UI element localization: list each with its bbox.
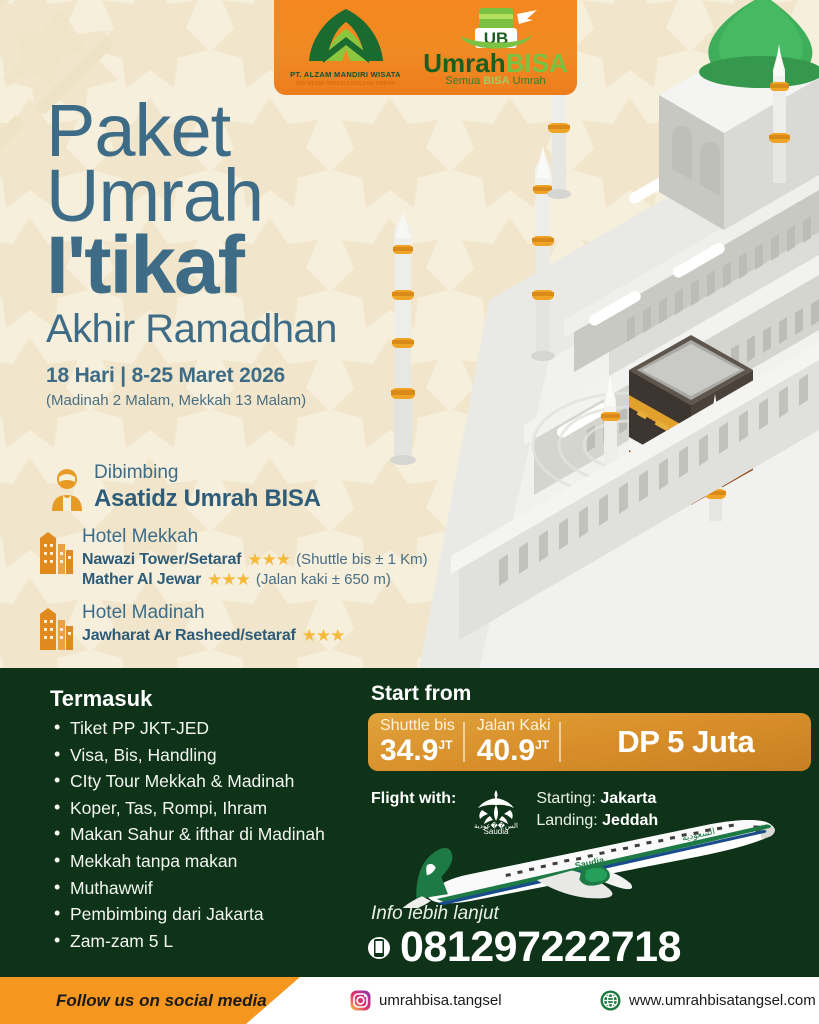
saudia-airplane-illustration: Saudia السعودية (385, 818, 815, 908)
follow-us-text: Follow us on social media (56, 991, 267, 1011)
guide-block: Dibimbing Asatidz Umrah BISA (50, 463, 321, 512)
website-link[interactable]: www.umrahbisatangsel.com (600, 990, 816, 1011)
hotel-entry: Mather Al Jewar ★★★ (Jalan kaki ± 650 m) (82, 571, 428, 589)
alzam-logo-subtitle: IZIN RESMI PENYELENGGARA UMRAH (281, 81, 411, 87)
price-option-label: Jalan Kaki (477, 718, 551, 735)
starting-value: Jakarta (600, 790, 656, 807)
hotel-name: Mather Al Jewar (82, 571, 201, 589)
phone-number[interactable]: 081297222718 (400, 926, 681, 969)
list-item: Makan Sahur & ifthar di Madinah (50, 821, 360, 848)
list-item: Pembimbing dari Jakarta (50, 901, 360, 928)
umrahbisa-name-part2: BISA (506, 48, 568, 78)
star-rating: ★★★ (302, 627, 345, 644)
guide-label: Dibimbing (94, 463, 321, 484)
guide-name: Asatidz Umrah BISA (94, 485, 321, 513)
hotel-city-label: Hotel Mekkah (82, 526, 428, 549)
tagline-part2: BISA (483, 75, 509, 87)
alzam-mosque-logo-icon (281, 5, 411, 67)
umrahbisa-logo: UB UmrahBISA Semua BISA Umrah (421, 2, 571, 94)
hotel-distance: (Jalan kaki ± 650 m) (256, 571, 391, 588)
flight-with-label: Flight with: (371, 788, 456, 808)
list-item: Mekkah tanpa makan (50, 848, 360, 875)
footer-bar: Follow us on social media umrahbisa.tang… (0, 977, 819, 1024)
list-item: Muthawwif (50, 875, 360, 902)
included-title: Termasuk (50, 686, 360, 712)
website-url: www.umrahbisatangsel.com (629, 992, 816, 1009)
instagram-link[interactable]: umrahbisa.tangsel (350, 990, 502, 1011)
list-item: Visa, Bis, Handling (50, 742, 360, 769)
alzam-logo: PT. ALZAM MANDIRI WISATA IZIN RESMI PENY… (281, 3, 411, 93)
price-option-shuttle: Shuttle bis 34.9JT (368, 718, 463, 766)
headline-block: Paket Umrah I'tikaf Akhir Ramadhan 18 Ha… (46, 98, 337, 409)
list-item: Zam-zam 5 L (50, 928, 360, 955)
price-unit: JT (438, 738, 452, 752)
hotel-city-label: Hotel Madinah (82, 602, 344, 625)
building-icon (38, 604, 74, 650)
down-payment-label: DP 5 Juta (561, 724, 811, 760)
flight-starting: Starting: Jakarta (536, 788, 658, 810)
umrahbisa-logo-name: UmrahBISA (421, 50, 571, 76)
price-number: 40.9 (477, 734, 535, 767)
price-box: Shuttle bis 34.9JT Jalan Kaki 40.9JT DP … (368, 713, 811, 771)
info-more-label: Info lebih lanjut (371, 903, 499, 925)
start-from-label: Start from (371, 682, 471, 706)
hotel-name: Jawharat Ar Rasheed/setaraf (82, 627, 296, 645)
price-unit: JT (535, 738, 549, 752)
headline-subtitle: Akhir Ramadhan (46, 308, 337, 350)
tagline-part1: Semua (445, 75, 483, 87)
mosque-kaaba-illustration (359, 0, 819, 670)
person-guide-icon (50, 467, 84, 511)
hotel-distance: (Shuttle bis ± 1 Km) (296, 551, 428, 568)
headline-note: (Madinah 2 Malam, Mekkah 13 Malam) (46, 392, 337, 409)
umrahbisa-name-part1: Umrah (423, 48, 505, 78)
instagram-handle: umrahbisa.tangsel (379, 992, 502, 1009)
hotel-name: Nawazi Tower/Setaraf (82, 551, 241, 569)
included-list: Tiket PP JKT-JED Visa, Bis, Handling CIt… (50, 715, 360, 954)
globe-icon (600, 990, 621, 1011)
list-item: CIty Tour Mekkah & Madinah (50, 768, 360, 795)
starting-label: Starting: (536, 790, 596, 807)
umrahbisa-logo-tagline: Semua BISA Umrah (421, 76, 571, 87)
list-item: Koper, Tas, Rompi, Ihram (50, 795, 360, 822)
price-option-value: 40.9JT (477, 736, 551, 766)
headline-line3: I'tikaf (46, 230, 337, 302)
star-rating: ★★★ (207, 571, 250, 588)
price-option-label: Shuttle bis (380, 718, 455, 735)
logo-banner: PT. ALZAM MANDIRI WISATA IZIN RESMI PENY… (274, 0, 577, 95)
list-item: Tiket PP JKT-JED (50, 715, 360, 742)
price-number: 34.9 (380, 734, 438, 767)
building-icon (38, 528, 74, 574)
star-rating: ★★★ (247, 551, 290, 568)
headline-date: 18 Hari | 8-25 Maret 2026 (46, 364, 337, 388)
price-option-walk: Jalan Kaki 40.9JT (465, 718, 559, 766)
alzam-logo-name: PT. ALZAM MANDIRI WISATA (281, 70, 411, 79)
umrahbisa-kaaba-logo-icon: UB (449, 6, 544, 54)
mobile-phone-icon (368, 933, 390, 963)
phone-block[interactable]: 081297222718 (368, 926, 681, 969)
instagram-icon (350, 990, 371, 1011)
poster-root: PT. ALZAM MANDIRI WISATA IZIN RESMI PENY… (0, 0, 819, 1024)
headline-line2: Umrah (46, 163, 337, 228)
included-block: Termasuk Tiket PP JKT-JED Visa, Bis, Han… (50, 686, 360, 954)
top-section: PT. ALZAM MANDIRI WISATA IZIN RESMI PENY… (0, 0, 819, 670)
hotel-entry: Nawazi Tower/Setaraf ★★★ (Shuttle bis ± … (82, 551, 428, 569)
hotel-mekkah-block: Hotel Mekkah Nawazi Tower/Setaraf ★★★ (S… (38, 526, 428, 589)
hotel-madinah-block: Hotel Madinah Jawharat Ar Rasheed/setara… (38, 602, 344, 650)
green-info-section: Termasuk Tiket PP JKT-JED Visa, Bis, Han… (0, 668, 819, 1024)
minaret (390, 212, 416, 465)
price-option-value: 34.9JT (380, 736, 455, 766)
hotel-entry: Jawharat Ar Rasheed/setaraf ★★★ (82, 627, 344, 645)
tagline-part3: Umrah (510, 75, 546, 87)
